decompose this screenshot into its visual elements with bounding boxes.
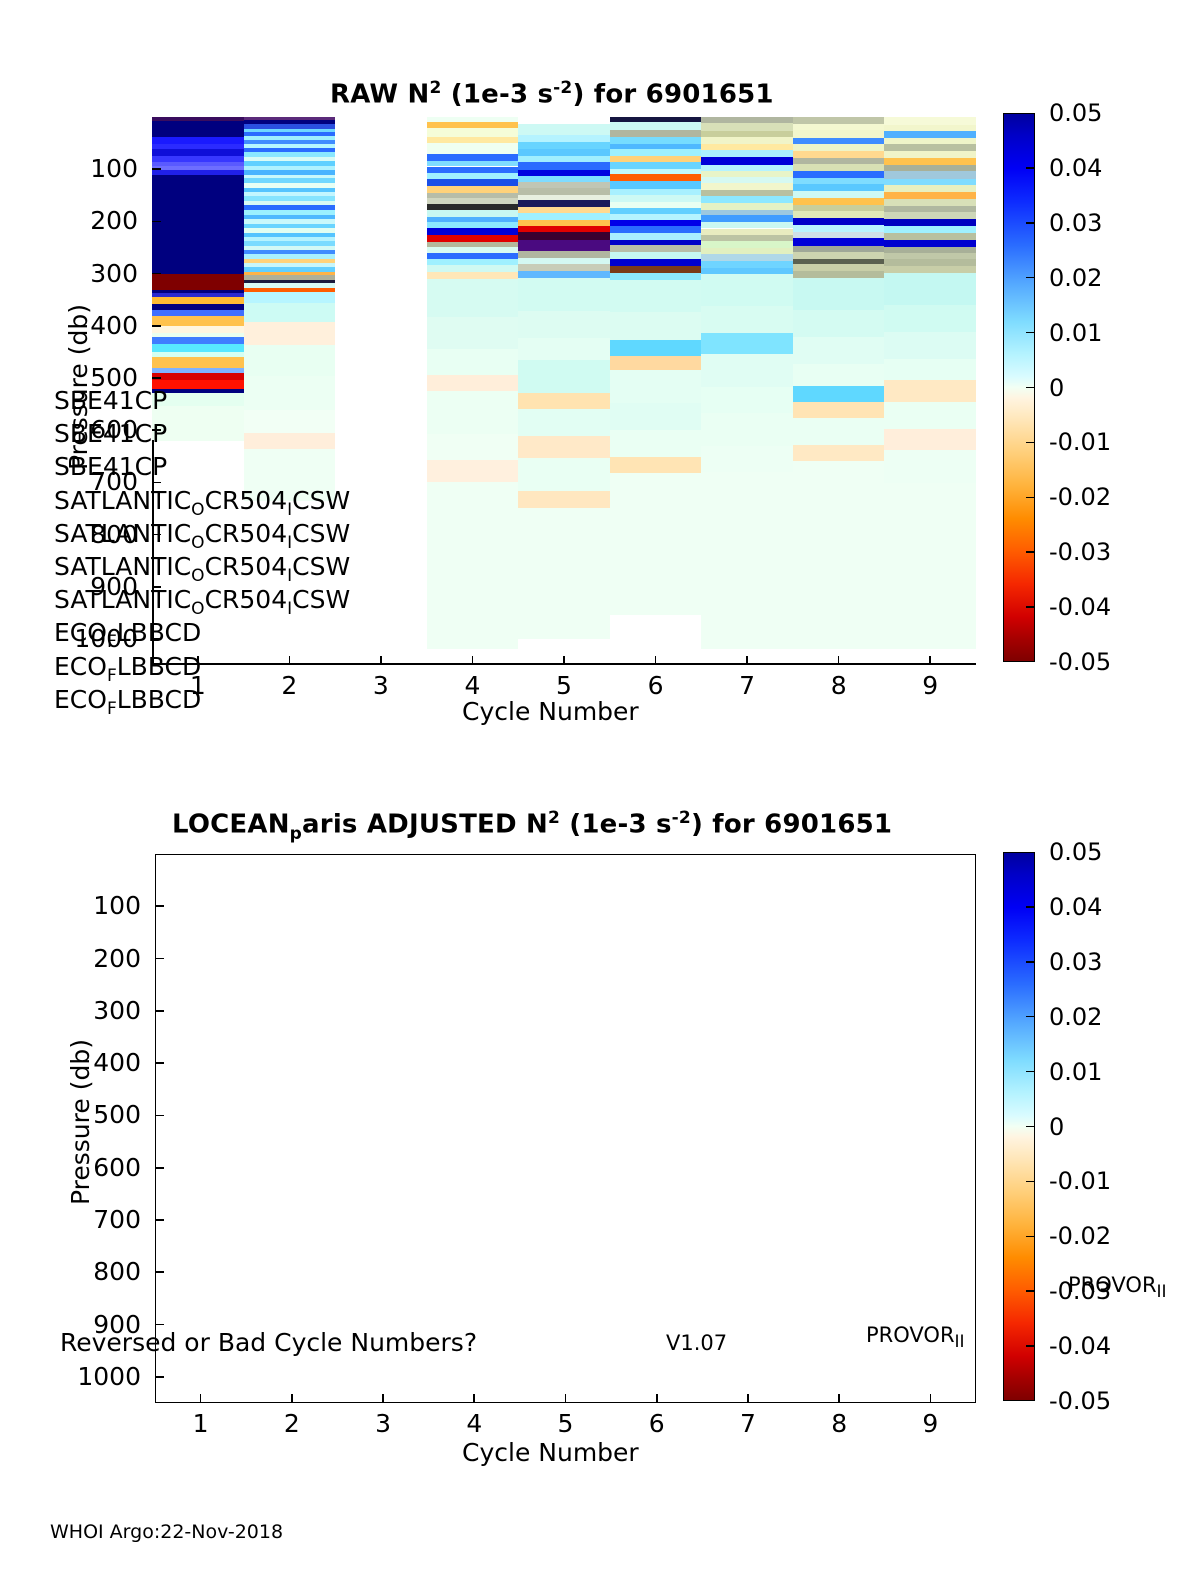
- colorbar-tick-mark: [1026, 277, 1035, 279]
- sensor-name: ECO: [54, 618, 107, 647]
- heatmap-band: [427, 167, 519, 174]
- heatmap-band: [701, 123, 793, 131]
- heatmap-band: [610, 252, 702, 260]
- xtick-mark: [655, 656, 657, 665]
- bottom-title-suffix: ) for 6901651: [691, 810, 892, 840]
- heatmap-band: [518, 240, 610, 251]
- heatmap-band: [610, 340, 702, 356]
- heatmap-band: [610, 259, 702, 266]
- xtick-label-6: 6: [626, 673, 686, 698]
- float-type-right-sub: II: [1157, 1282, 1167, 1302]
- top-title-sup-neg2: -2: [553, 78, 572, 98]
- heatmap-band: [427, 179, 519, 186]
- heatmap-band: [610, 370, 702, 403]
- heatmap-band: [884, 402, 976, 429]
- heatmap-band: [610, 122, 702, 130]
- heatmap-band: [152, 357, 244, 368]
- heatmap-band: [884, 240, 976, 247]
- heatmap-band: [884, 380, 976, 402]
- sensor-tail: CR504: [205, 585, 288, 614]
- heatmap-band: [610, 233, 702, 240]
- colorbar-tick-mark: [1026, 961, 1035, 963]
- colorbar-tick-mark: [1026, 1071, 1035, 1073]
- colorbar-tick-neg0-01: -0.01: [1049, 1169, 1111, 1193]
- heatmap-band: [701, 413, 793, 445]
- xtick-mark: [838, 1394, 840, 1403]
- xtick-mark: [291, 1394, 293, 1403]
- colorbar-tick-neg0-04: -0.04: [1049, 1334, 1111, 1358]
- heatmap-band: [518, 311, 610, 338]
- heatmap-band: [884, 450, 976, 482]
- ytick-mark: [152, 482, 161, 484]
- float-type-label-left: PROVORII: [866, 1325, 965, 1351]
- xtick-label-6: 6: [627, 1411, 687, 1436]
- heatmap-band: [610, 312, 702, 339]
- heatmap-band: [610, 181, 702, 189]
- heatmap-band: [610, 273, 702, 280]
- bottom-title-sub-p: p: [290, 824, 302, 844]
- heatmap-band: [610, 226, 702, 233]
- colorbar-tick-mark: [1026, 551, 1035, 553]
- xtick-mark: [380, 656, 382, 665]
- reversed-bad-cycles-note: Reversed or Bad Cycle Numbers?: [60, 1330, 477, 1355]
- colorbar-tick-mark: [1026, 1181, 1035, 1183]
- colorbar-tick-mark: [1026, 1016, 1035, 1018]
- heatmap-band: [884, 305, 976, 332]
- heatmap-band: [518, 135, 610, 143]
- heatmap-band: [427, 143, 519, 154]
- sensor-name: SATLANTIC: [54, 486, 191, 515]
- heatmap-band: [427, 235, 519, 242]
- colorbar-tick-mark: [1026, 906, 1035, 908]
- sensor-sub: F: [107, 699, 117, 719]
- xtick-mark: [289, 656, 291, 665]
- heatmap-band: [701, 177, 793, 184]
- heatmap-band: [610, 208, 702, 215]
- xtick-label-4: 4: [444, 1411, 504, 1436]
- ytick-label-100: 100: [37, 893, 141, 918]
- heatmap-column-cycle-2: [244, 117, 336, 501]
- heatmap-band: [701, 387, 793, 414]
- sensor-name: SBE41CP: [54, 419, 167, 448]
- colorbar-tick-neg0-03: -0.03: [1049, 1279, 1111, 1303]
- colorbar-tick-0neg05: 0.05: [1049, 840, 1102, 864]
- heatmap-band: [427, 434, 519, 461]
- float-type-left-sub: II: [955, 1332, 965, 1352]
- sensor-tail: CR504: [205, 486, 288, 515]
- heatmap-band: [427, 210, 519, 217]
- xtick-mark: [472, 656, 474, 665]
- heatmap-band: [518, 409, 610, 436]
- heatmap-column-cycle-5: [518, 117, 610, 639]
- colorbar-tick-neg0-05: -0.05: [1049, 1389, 1111, 1413]
- ytick-mark: [155, 1115, 164, 1117]
- top-title-prefix: RAW N: [330, 80, 429, 110]
- heatmap-band: [793, 445, 885, 461]
- heatmap-band: [793, 198, 885, 205]
- heatmap-band: [884, 483, 976, 650]
- heatmap-band: [793, 264, 885, 271]
- heatmap-column-cycle-9: [884, 117, 976, 649]
- sensor-label-3: SATLANTICOCR504ICSW: [54, 488, 350, 519]
- ytick-label-700: 700: [37, 1207, 141, 1232]
- top-title-sup-2: 2: [429, 78, 441, 98]
- ytick-mark: [152, 168, 161, 170]
- heatmap-band: [793, 278, 885, 310]
- heatmap-band: [793, 418, 885, 445]
- heatmap-band: [518, 491, 610, 507]
- heatmap-band: [427, 349, 519, 376]
- heatmap-band: [884, 273, 976, 305]
- xtick-label-8: 8: [809, 1411, 869, 1436]
- sensor-name: ECO: [54, 685, 107, 714]
- ytick-label-800: 800: [37, 1259, 141, 1284]
- ytick-mark: [155, 1219, 164, 1221]
- ytick-mark: [155, 1376, 164, 1378]
- heatmap-band: [518, 124, 610, 135]
- heatmap-band: [884, 185, 976, 192]
- heatmap-band: [884, 158, 976, 165]
- ytick-mark: [155, 1324, 164, 1326]
- colorbar-tick-mark: [1026, 332, 1035, 334]
- xtick-mark: [382, 1394, 384, 1403]
- heatmap-band: [427, 265, 519, 272]
- heatmap-band: [427, 391, 519, 434]
- heatmap-band: [793, 402, 885, 418]
- heatmap-band: [152, 310, 244, 316]
- colorbar-tick-0: 0: [1049, 1115, 1064, 1139]
- ytick-label-200: 200: [34, 208, 138, 233]
- xtick-mark: [656, 1394, 658, 1403]
- heatmap-band: [518, 508, 610, 639]
- heatmap-band: [427, 460, 519, 481]
- colorbar-tick-0neg04: 0.04: [1049, 895, 1102, 919]
- bottom-plot-title: LOCEANparis ADJUSTED N2 (1e-3 s-2) for 6…: [172, 808, 892, 844]
- heatmap-band: [427, 375, 519, 391]
- sensor-sub: O: [191, 533, 204, 553]
- bottom-title-sup-neg2: -2: [672, 808, 691, 828]
- adjusted-n2-axes[interactable]: [155, 854, 976, 1403]
- ytick-mark: [152, 221, 161, 223]
- sensor-label-0: SBE41CP: [54, 388, 167, 413]
- sensor-name: SATLANTIC: [54, 519, 191, 548]
- heatmap-band: [518, 393, 610, 409]
- colorbar-tick-neg0-03: -0.03: [1049, 540, 1111, 564]
- bottom-title-mid0: aris ADJUSTED N: [302, 810, 548, 840]
- heatmap-band: [793, 218, 885, 226]
- heatmap-band: [518, 360, 610, 393]
- heatmap-band: [610, 195, 702, 202]
- heatmap-band: [244, 292, 336, 303]
- xtick-mark: [473, 1394, 475, 1403]
- heatmap-band: [244, 303, 336, 322]
- sensor-tail2: CSW: [292, 552, 350, 581]
- heatmap-band: [701, 241, 793, 248]
- colorbar-tick-mark: [1026, 1126, 1035, 1128]
- heatmap-column-cycle-8: [793, 117, 885, 649]
- heatmap-band: [701, 333, 793, 354]
- heatmap-band: [793, 151, 885, 158]
- heatmap-band: [518, 232, 610, 240]
- sensor-name: ECO: [54, 652, 107, 681]
- heatmap-band: [610, 356, 702, 370]
- colorbar-tick-neg0-05: -0.05: [1049, 650, 1111, 674]
- colorbar-tick-0neg03: 0.03: [1049, 950, 1102, 974]
- heatmap-band: [793, 184, 885, 191]
- heatmap-band: [884, 171, 976, 179]
- xtick-label-5: 5: [536, 1411, 596, 1436]
- heatmap-band: [884, 131, 976, 138]
- heatmap-band: [701, 215, 793, 222]
- heatmap-band: [884, 332, 976, 359]
- colorbar-tick-0neg01: 0.01: [1049, 1060, 1102, 1084]
- heatmap-band: [518, 149, 610, 156]
- colorbar-tick-mark: [1026, 442, 1035, 444]
- xtick-mark: [565, 1394, 567, 1403]
- ytick-mark: [155, 905, 164, 907]
- heatmap-band: [793, 310, 885, 337]
- ytick-mark: [152, 325, 161, 327]
- heatmap-band: [244, 345, 336, 376]
- xtick-label-2: 2: [259, 673, 319, 698]
- xtick-mark: [563, 656, 565, 665]
- ytick-label-1000: 1000: [37, 1364, 141, 1389]
- sensor-sub: O: [191, 599, 204, 619]
- heatmap-band: [152, 149, 244, 156]
- colorbar-tick-0neg05: 0.05: [1049, 101, 1102, 125]
- heatmap-band: [701, 157, 793, 165]
- heatmap-band: [152, 137, 244, 143]
- xtick-label-2: 2: [262, 1411, 322, 1436]
- heatmap-band: [152, 344, 244, 351]
- colorbar-tick-0neg02: 0.02: [1049, 1005, 1102, 1029]
- heatmap-band: [244, 410, 336, 433]
- heatmap-band: [518, 278, 610, 311]
- heatmap-band: [884, 144, 976, 151]
- ytick-mark: [155, 1062, 164, 1064]
- heatmap-band: [152, 274, 244, 290]
- ytick-mark: [155, 1271, 164, 1273]
- heatmap-band: [610, 430, 702, 457]
- sensor-label-7: ECOFLBBCD: [54, 620, 201, 651]
- colorbar-tick-0neg02: 0.02: [1049, 266, 1102, 290]
- ytick-mark: [155, 1167, 164, 1169]
- ytick-mark: [152, 273, 161, 275]
- sensor-label-5: SATLANTICOCR504ICSW: [54, 554, 350, 585]
- heatmap-band: [610, 280, 702, 313]
- bottom-title-mid: (1e-3 s: [560, 810, 672, 840]
- heatmap-column-cycle-6: [610, 117, 702, 615]
- xtick-label-3: 3: [353, 1411, 413, 1436]
- colorbar-tick-mark: [1026, 222, 1035, 224]
- xtick-mark: [746, 656, 748, 665]
- colorbar-tick-mark: [1026, 167, 1035, 169]
- heatmap-band: [884, 199, 976, 206]
- sensor-label-8: ECOFLBBCD: [54, 654, 201, 685]
- colorbar-tick-mark: [1026, 1290, 1035, 1292]
- sensor-sub: O: [191, 500, 204, 520]
- xtick-mark: [929, 656, 931, 665]
- sensor-sub: O: [191, 566, 204, 586]
- heatmap-band: [427, 482, 519, 650]
- sensor-tail: LBBCD: [117, 685, 202, 714]
- xtick-mark: [747, 1394, 749, 1403]
- heatmap-band: [152, 297, 244, 304]
- colorbar-tick-neg0-02: -0.02: [1049, 485, 1111, 509]
- colorbar-tick-0neg03: 0.03: [1049, 211, 1102, 235]
- ytick-label-200: 200: [37, 946, 141, 971]
- heatmap-band: [793, 364, 885, 386]
- colorbar-tick-mark: [1026, 1345, 1035, 1347]
- sensor-tail: LBBCD: [117, 652, 202, 681]
- heatmap-band: [701, 306, 793, 333]
- heatmap-band: [884, 266, 976, 273]
- heatmap-band: [152, 175, 244, 274]
- heatmap-band: [884, 219, 976, 226]
- sensor-label-1: SBE41CP: [54, 421, 167, 446]
- colorbar-tick-0neg01: 0.01: [1049, 321, 1102, 345]
- sensor-tail: LBBCD: [117, 618, 202, 647]
- heatmap-band: [244, 376, 336, 411]
- xtick-label-8: 8: [809, 673, 869, 698]
- heatmap-band: [701, 274, 793, 306]
- xtick-label-4: 4: [442, 673, 502, 698]
- footer-timestamp: WHOI Argo:22-Nov-2018: [50, 1521, 283, 1543]
- bottom-xlabel: Cycle Number: [462, 1438, 639, 1467]
- xtick-label-3: 3: [351, 673, 411, 698]
- sensor-tail: CR504: [205, 519, 288, 548]
- heatmap-band: [152, 337, 244, 345]
- sensor-sub: F: [107, 632, 117, 652]
- heatmap-band: [152, 316, 244, 326]
- heatmap-band: [793, 117, 885, 124]
- colorbar-tick-mark: [1026, 606, 1035, 608]
- heatmap-band: [884, 429, 976, 451]
- xtick-label-7: 7: [717, 673, 777, 698]
- heatmap-band: [884, 359, 976, 381]
- xtick-label-1: 1: [171, 1411, 231, 1436]
- sensor-label-2: SBE41CP: [54, 454, 167, 479]
- colorbar-tick-0neg04: 0.04: [1049, 156, 1102, 180]
- heatmap-band: [884, 117, 976, 125]
- heatmap-band: [427, 279, 519, 316]
- bottom-title-sup-2: 2: [548, 808, 560, 828]
- colorbar-tick-0: 0: [1049, 376, 1064, 400]
- colorbar-tick-mark: [1026, 387, 1035, 389]
- top-title-suffix: ) for 6901651: [572, 80, 773, 110]
- sensor-tail2: CSW: [292, 585, 350, 614]
- bottom-ylabel: Pressure (db): [66, 1039, 95, 1205]
- heatmap-band: [427, 154, 519, 161]
- heatmap-band: [244, 322, 336, 345]
- colorbar-tick-mark: [1026, 1236, 1035, 1238]
- heatmap-band: [610, 457, 702, 473]
- sensor-name: SBE41CP: [54, 452, 167, 481]
- colorbar-tick-neg0-01: -0.01: [1049, 430, 1111, 454]
- xtick-label-9: 9: [900, 1411, 960, 1436]
- ytick-label-300: 300: [37, 998, 141, 1023]
- colorbar-tick-neg0-02: -0.02: [1049, 1224, 1111, 1248]
- heatmap-band: [793, 461, 885, 649]
- heatmap-band: [610, 473, 702, 615]
- xtick-label-5: 5: [534, 673, 594, 698]
- xtick-mark: [200, 1394, 202, 1403]
- heatmap-band: [427, 272, 519, 279]
- sensor-sub: F: [107, 666, 117, 686]
- xtick-label-7: 7: [718, 1411, 778, 1436]
- heatmap-band: [701, 472, 793, 649]
- colorbar-tick-neg0-04: -0.04: [1049, 595, 1111, 619]
- top-xlabel: Cycle Number: [462, 697, 639, 726]
- ytick-mark: [152, 377, 161, 379]
- heatmap-band: [152, 121, 244, 137]
- heatmap-band: [793, 130, 885, 138]
- heatmap-band: [610, 189, 702, 196]
- sensor-label-4: SATLANTICOCR504ICSW: [54, 521, 350, 552]
- sensor-label-6: SATLANTICOCR504ICSW: [54, 587, 350, 618]
- ytick-mark: [155, 1010, 164, 1012]
- heatmap-band: [518, 338, 610, 360]
- ytick-label-300: 300: [34, 261, 138, 286]
- top-plot-title: RAW N2 (1e-3 s-2) for 6901651: [330, 78, 774, 110]
- heatmap-band: [701, 354, 793, 386]
- heatmap-band: [610, 137, 702, 144]
- heatmap-band: [518, 271, 610, 278]
- heatmap-band: [884, 212, 976, 219]
- heatmap-band: [427, 128, 519, 137]
- heatmap-band: [610, 403, 702, 430]
- heatmap-column-cycle-7: [701, 117, 793, 649]
- heatmap-band: [518, 200, 610, 207]
- heatmap-band: [518, 162, 610, 170]
- ytick-label-100: 100: [34, 156, 138, 181]
- version-label: V1.07: [666, 1333, 727, 1354]
- sensor-name: SATLANTIC: [54, 585, 191, 614]
- heatmap-band: [793, 238, 885, 246]
- top-title-mid: (1e-3 s: [442, 80, 554, 110]
- heatmap-band: [427, 317, 519, 349]
- heatmap-band: [793, 386, 885, 402]
- heatmap-column-cycle-4: [427, 117, 519, 649]
- heatmap-band: [152, 326, 244, 332]
- heatmap-band: [152, 373, 244, 381]
- float-type-left-text: PROVOR: [866, 1323, 955, 1347]
- heatmap-band: [701, 196, 793, 203]
- heatmap-band: [701, 446, 793, 473]
- sensor-tail: CR504: [205, 552, 288, 581]
- sensor-name: SBE41CP: [54, 386, 167, 415]
- sensor-tail2: CSW: [292, 519, 350, 548]
- xtick-label-9: 9: [900, 673, 960, 698]
- heatmap-band: [701, 261, 793, 268]
- heatmap-band: [244, 433, 336, 448]
- sensor-name: SATLANTIC: [54, 552, 191, 581]
- heatmap-band: [793, 171, 885, 178]
- heatmap-band: [518, 436, 610, 458]
- colorbar-tick-mark: [1026, 497, 1035, 499]
- heatmap-band: [518, 458, 610, 491]
- heatmap-band: [884, 233, 976, 240]
- sensor-tail2: CSW: [292, 486, 350, 515]
- xtick-mark: [838, 656, 840, 665]
- xtick-mark: [930, 1394, 932, 1403]
- ytick-mark: [155, 958, 164, 960]
- heatmap-band: [793, 337, 885, 364]
- sensor-label-9: ECOFLBBCD: [54, 687, 201, 718]
- heatmap-band: [610, 162, 702, 169]
- heatmap-band: [701, 137, 793, 144]
- bottom-title-prefix: LOCEAN: [172, 810, 290, 840]
